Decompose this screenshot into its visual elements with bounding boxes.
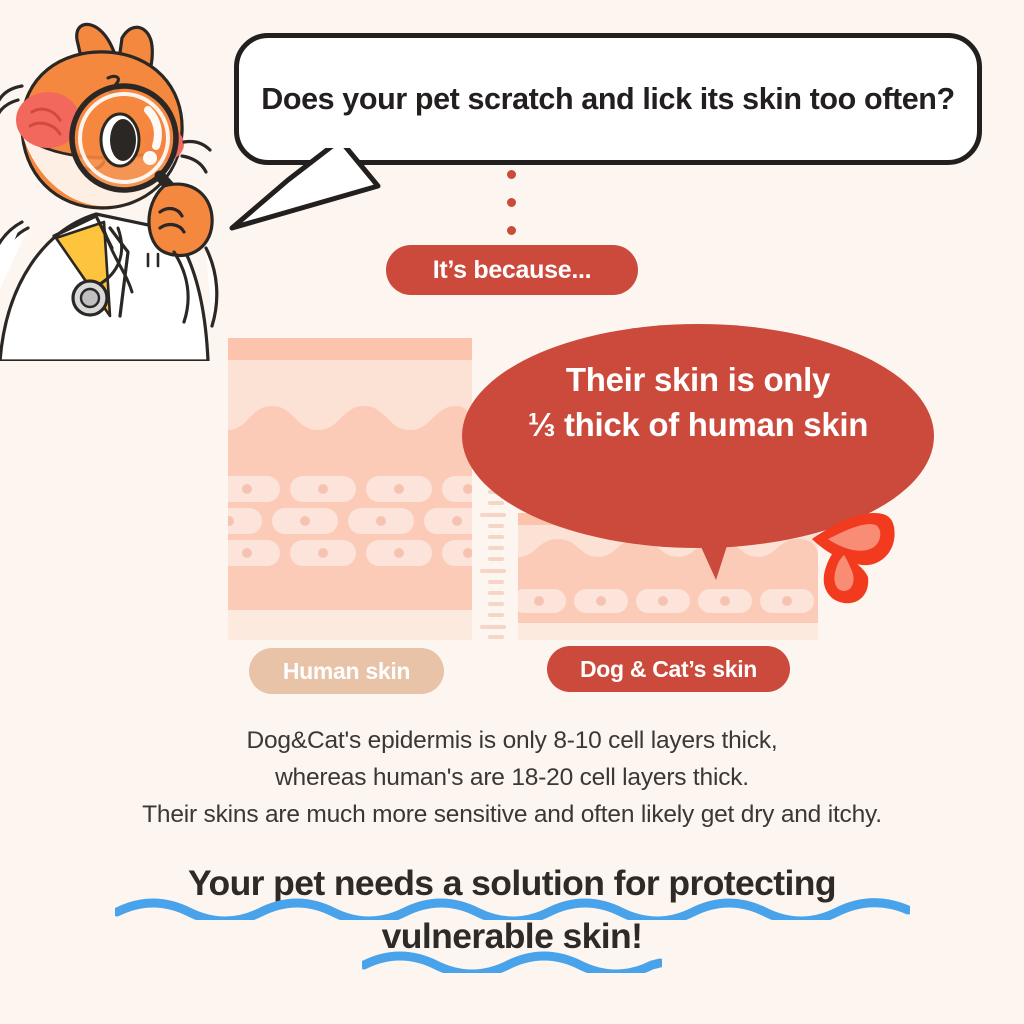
body-line-3: Their skins are much more sensitive and … bbox=[0, 796, 1024, 833]
connector-dot bbox=[507, 226, 516, 235]
speech-bubble-tail bbox=[228, 140, 388, 235]
cat-doctor-illustration bbox=[0, 16, 232, 361]
because-label: It’s because... bbox=[433, 256, 592, 285]
body-copy: Dog&Cat's epidermis is only 8-10 cell la… bbox=[0, 722, 1024, 833]
human-skin-label-text: Human skin bbox=[283, 658, 410, 685]
wavy-underline-2 bbox=[362, 951, 662, 973]
connector-dot bbox=[507, 198, 516, 207]
blood-droplets-icon bbox=[806, 505, 898, 605]
because-pill: It’s because... bbox=[386, 245, 638, 295]
body-line-2: whereas human's are 18-20 cell layers th… bbox=[0, 759, 1024, 796]
pet-skin-label-text: Dog & Cat’s skin bbox=[580, 656, 757, 683]
infographic-canvas: Does your pet scratch and lick its skin … bbox=[0, 0, 1024, 1024]
question-text: Does your pet scratch and lick its skin … bbox=[261, 82, 955, 117]
body-line-1: Dog&Cat's epidermis is only 8-10 cell la… bbox=[0, 722, 1024, 759]
human-skin-diagram bbox=[228, 338, 472, 640]
dotted-connector bbox=[507, 170, 516, 254]
human-skin-label: Human skin bbox=[249, 648, 444, 694]
wavy-underline-1 bbox=[115, 898, 910, 920]
connector-dot bbox=[507, 170, 516, 179]
pet-skin-label: Dog & Cat’s skin bbox=[547, 646, 790, 692]
